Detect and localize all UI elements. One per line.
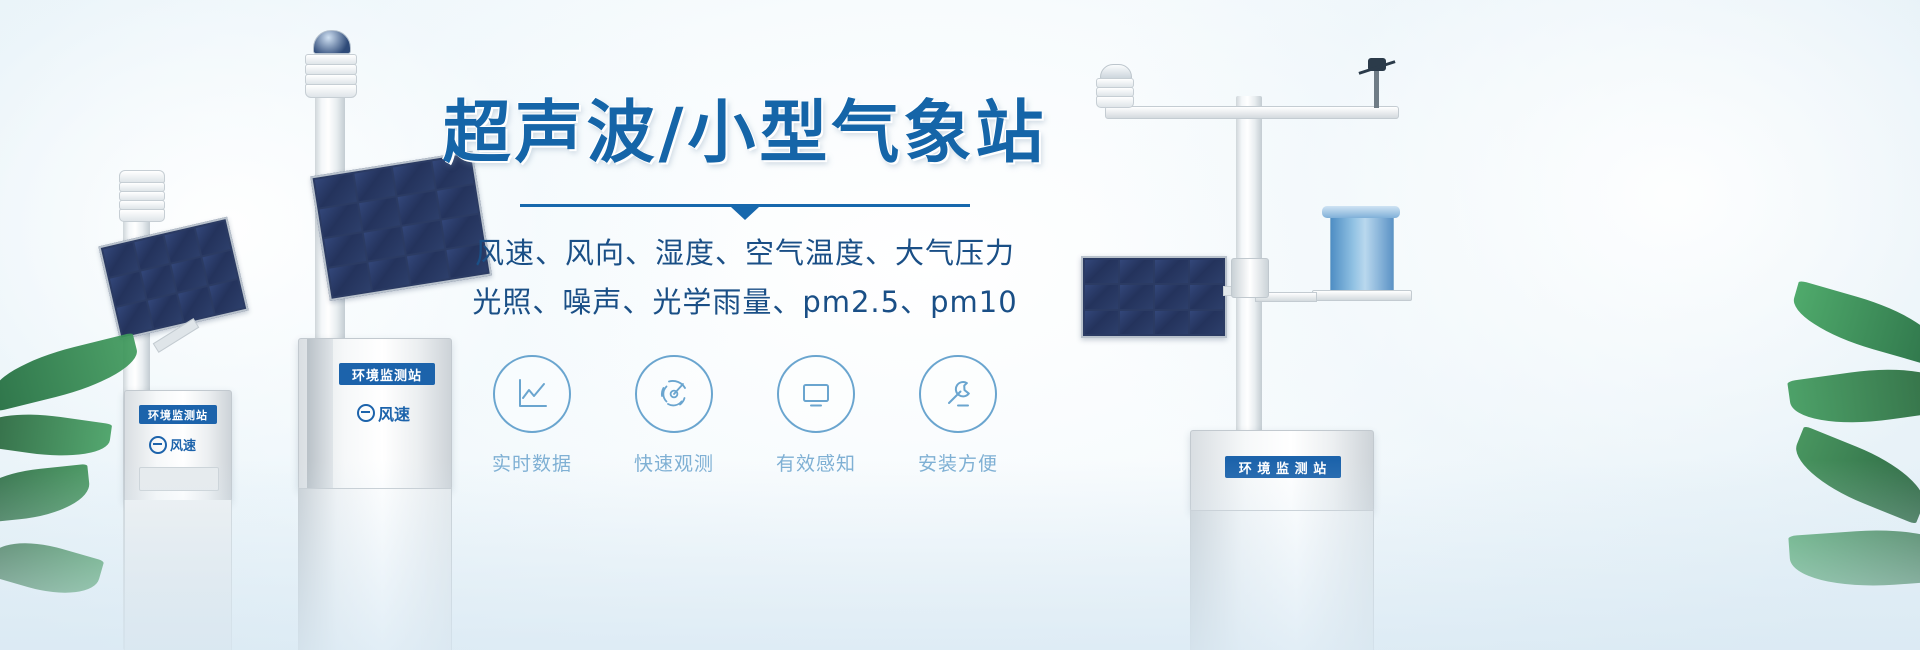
line-chart-icon (493, 355, 571, 433)
right-rain-gauge-rim (1322, 206, 1400, 218)
feature-item-realtime-data[interactable]: 实时数据 (477, 355, 587, 476)
subtitle-line-1: 风速、风向、湿度、空气温度、大气压力 (440, 231, 1050, 276)
right-wind-vane-icon (1366, 58, 1388, 108)
left-cabinet-brand: 风速 (149, 435, 196, 454)
left-cabinet-label: 环境监测站 (139, 405, 217, 424)
mid-cabinet-label: 环境监测站 (339, 363, 435, 385)
feature-label: 有效感知 (761, 449, 871, 476)
product-banner: 环境监测站 风速 环境监测站 (0, 0, 1920, 650)
feature-label: 实时数据 (477, 449, 587, 476)
feature-label: 快速观测 (619, 449, 729, 476)
feature-item-effective-sensing[interactable]: 有效感知 (761, 355, 871, 476)
right-rain-gauge-shelf (1312, 290, 1412, 301)
feature-item-easy-installation[interactable]: 安装方便 (903, 355, 1013, 476)
right-rain-gauge (1330, 212, 1394, 294)
right-ultrasonic-sensor-icon (1096, 64, 1134, 108)
mid-sensor-dome (313, 30, 351, 54)
mid-brand-text: 风速 (378, 401, 410, 425)
feature-list: 实时数据 快速观测 (440, 355, 1050, 476)
monitor-icon (777, 355, 855, 433)
right-station-crossarm (1105, 106, 1399, 119)
page-title: 超声波/小型气象站 (440, 100, 1050, 168)
mid-ultrasonic-sensor-icon (305, 30, 357, 98)
left-ultrasonic-sensor-icon (119, 170, 165, 222)
subtitle-line-2: 光照、噪声、光学雨量、pm2.5、pm10 (440, 280, 1050, 325)
wrench-icon (919, 355, 997, 433)
radar-scan-icon (635, 355, 713, 433)
feature-item-fast-observation[interactable]: 快速观测 (619, 355, 729, 476)
feature-label: 安装方便 (903, 449, 1013, 476)
mid-cabinet-brand: 风速 (357, 401, 410, 425)
banner-content: 超声波/小型气象站 风速、风向、湿度、空气温度、大气压力 光照、噪声、光学雨量、… (440, 100, 1050, 476)
background-wash-bottom (0, 460, 1920, 650)
right-solar-panel (1081, 256, 1227, 338)
title-divider (520, 204, 970, 207)
brand-mark-icon (357, 404, 375, 422)
right-pole-collar (1231, 258, 1269, 298)
brand-mark-icon (149, 436, 167, 454)
left-brand-text: 风速 (170, 435, 196, 454)
